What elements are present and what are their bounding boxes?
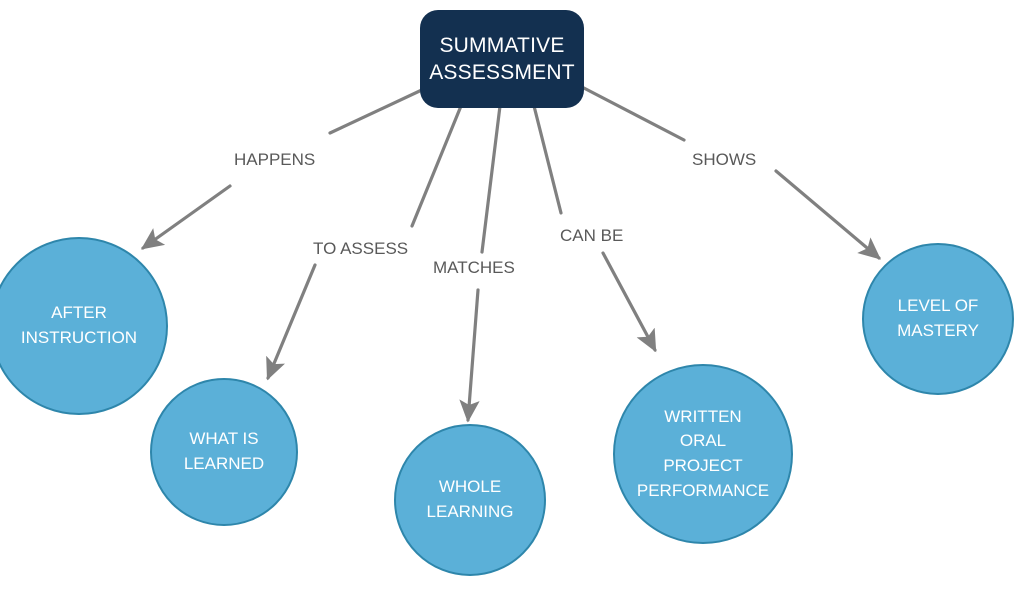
node-label-level-of-mastery: LEVEL OF MASTERY [897, 294, 979, 343]
edge-label-can-be: CAN BE [560, 226, 623, 246]
node-level-of-mastery[interactable]: LEVEL OF MASTERY [862, 243, 1014, 395]
node-written-oral-project-performance[interactable]: WRITTEN ORAL PROJECT PERFORMANCE [613, 364, 793, 544]
edge-label-to-assess: TO ASSESS [313, 239, 408, 259]
node-label-whole-learning: WHOLE LEARNING [427, 475, 514, 524]
diagram-canvas: SUMMATIVE ASSESSMENT AFTER INSTRUCTION W… [0, 0, 1024, 591]
edge-label-happens: HAPPENS [234, 150, 315, 170]
edge-label-shows: SHOWS [692, 150, 756, 170]
edge-label-matches: MATCHES [433, 258, 515, 278]
node-label-after-instruction: AFTER INSTRUCTION [21, 301, 137, 350]
edge-shows [580, 86, 879, 258]
node-what-is-learned[interactable]: WHAT IS LEARNED [150, 378, 298, 526]
node-whole-learning[interactable]: WHOLE LEARNING [394, 424, 546, 576]
node-summative-assessment[interactable]: SUMMATIVE ASSESSMENT [420, 10, 584, 108]
node-label-what-is-learned: WHAT IS LEARNED [184, 427, 264, 476]
node-label-written-oral-project-performance: WRITTEN ORAL PROJECT PERFORMANCE [637, 405, 769, 504]
node-label-summative-assessment: SUMMATIVE ASSESSMENT [429, 32, 575, 87]
